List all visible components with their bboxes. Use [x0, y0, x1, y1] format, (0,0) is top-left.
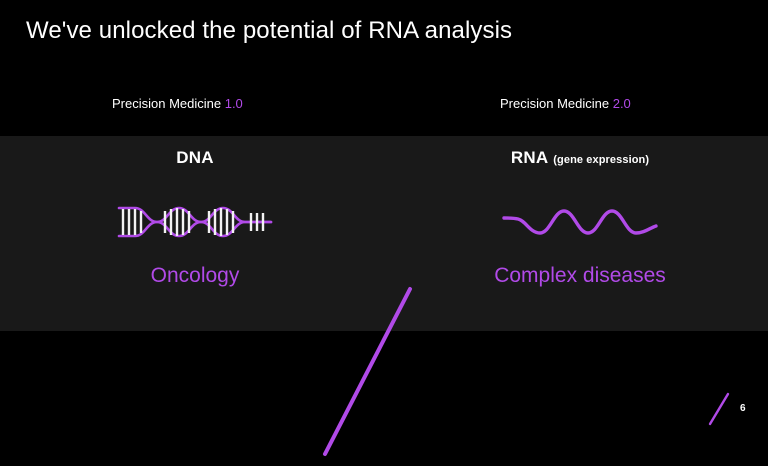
column-dna: DNA: [30, 136, 360, 331]
era-label-right: Precision Medicine 2.0: [500, 96, 631, 111]
caption-complex-diseases: Complex diseases: [415, 264, 745, 288]
era-label-right-prefix: Precision Medicine: [500, 96, 613, 111]
molecule-name-dna: DNA: [176, 148, 213, 167]
content-band: DNA: [0, 136, 768, 331]
rna-single-strand-wave-icon: [415, 194, 745, 250]
caption-oncology: Oncology: [30, 264, 360, 288]
molecule-heading-dna: DNA: [30, 148, 360, 168]
page-title: We've unlocked the potential of RNA anal…: [26, 17, 512, 45]
era-label-left: Precision Medicine 1.0: [112, 96, 243, 111]
slide-canvas: We've unlocked the potential of RNA anal…: [0, 0, 768, 431]
molecule-heading-rna: RNA(gene expression): [415, 148, 745, 168]
column-rna: RNA(gene expression) Complex diseases: [415, 136, 745, 331]
molecule-name-rna: RNA: [511, 148, 548, 167]
brand-slash-logo: [706, 390, 734, 428]
page-number: 6: [740, 403, 746, 414]
era-label-right-version: 2.0: [613, 96, 631, 111]
dna-double-helix-icon: [30, 194, 360, 250]
era-label-left-prefix: Precision Medicine: [112, 96, 225, 111]
era-label-left-version: 1.0: [225, 96, 243, 111]
molecule-subtitle-rna: (gene expression): [553, 154, 649, 166]
